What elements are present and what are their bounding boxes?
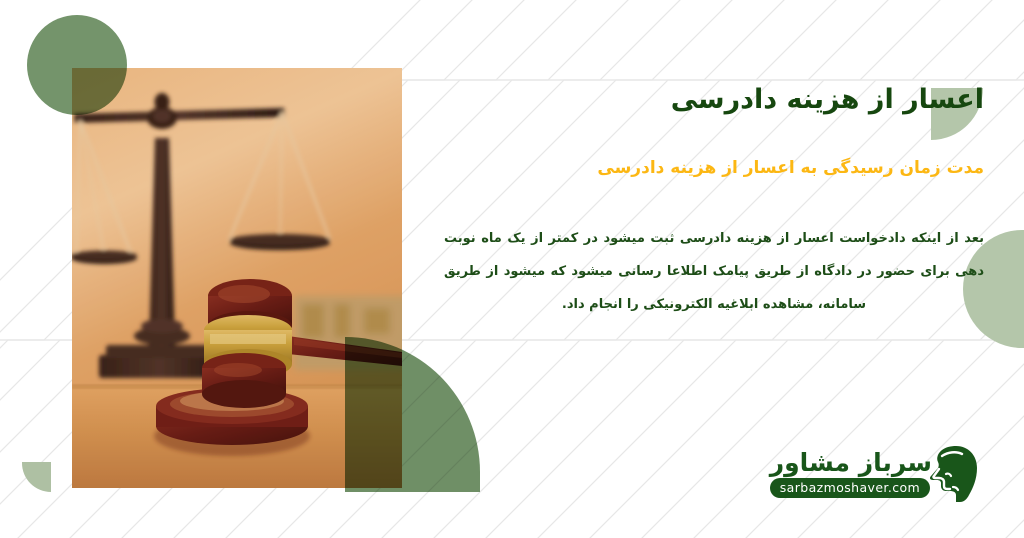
soldier-head-silhouette-icon <box>926 443 980 505</box>
logo-brand-name: سرباز مشاور <box>770 450 932 476</box>
page-title: اعسار از هزینه دادرسی <box>444 82 984 118</box>
content-block: اعسار از هزینه دادرسی مدت زمان رسیدگی به… <box>444 82 984 118</box>
body-paragraph: بعد از اینکه دادخواست اعسار از هزینه داد… <box>444 222 984 321</box>
decor-circle-top-left <box>27 15 127 115</box>
logo-website-url[interactable]: sarbazmoshaver.com <box>770 478 930 498</box>
decor-leaf-over-photo <box>345 337 480 492</box>
logo-wordmark: سرباز مشاور sarbazmoshaver.com <box>770 450 932 498</box>
page-subtitle: مدت زمان رسیدگی به اعسار از هزینه دادرسی <box>444 157 984 181</box>
site-logo[interactable]: سرباز مشاور sarbazmoshaver.com <box>788 443 980 505</box>
decor-leaf-bottom-left <box>22 462 51 492</box>
banner: اعسار از هزینه دادرسی مدت زمان رسیدگی به… <box>0 0 1024 538</box>
